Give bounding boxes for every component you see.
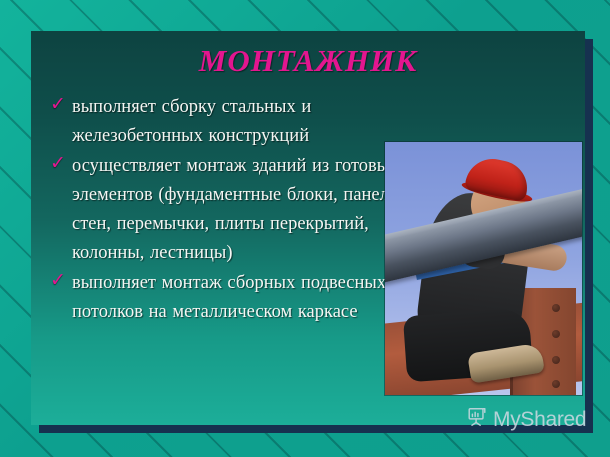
myshared-watermark: MyShared	[466, 406, 586, 433]
page-title: МОНТАЖНИК	[31, 43, 585, 79]
slide-canvas: МОНТАЖНИК ✓ выполняет сборку стальных и …	[0, 0, 610, 457]
photo-bolt	[552, 330, 560, 338]
list-item-text: выполняет сборку стальных и железобетонн…	[72, 97, 311, 146]
check-icon: ✓	[50, 270, 68, 290]
list-item: ✓ выполняет сборку стальных и железобето…	[48, 93, 408, 151]
watermark-label: MyShared	[493, 408, 586, 432]
list-item: ✓ осуществляет монтаж зданий из готовых …	[48, 152, 408, 268]
photo-bolt	[552, 304, 560, 312]
photo-bolt	[552, 356, 560, 364]
bullet-list: ✓ выполняет сборку стальных и железобето…	[48, 93, 408, 328]
check-icon: ✓	[50, 153, 68, 173]
presentation-chart-icon	[466, 406, 488, 433]
list-item-text: выполняет монтаж сборных подвесных потол…	[72, 273, 386, 322]
list-item-text: осуществляет монтаж зданий из готовых эл…	[72, 156, 399, 263]
content-panel: МОНТАЖНИК ✓ выполняет сборку стальных и …	[31, 31, 585, 425]
check-icon: ✓	[50, 94, 68, 114]
list-item: ✓ выполняет монтаж сборных подвесных пот…	[48, 269, 408, 327]
worker-photo	[385, 142, 582, 395]
photo-bolt	[552, 380, 560, 388]
